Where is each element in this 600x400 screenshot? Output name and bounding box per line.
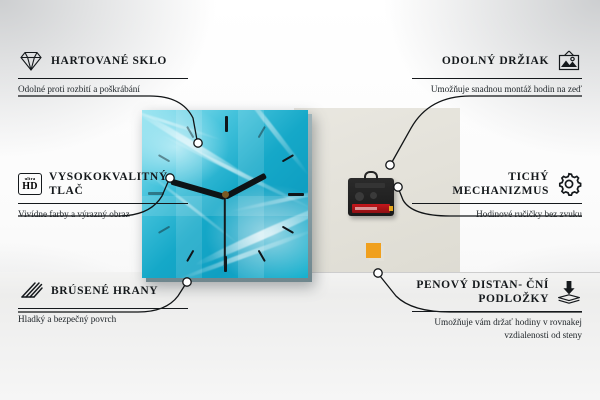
infographic-stage: HARTOVANÉ SKLO Odolné proti rozbití a po… bbox=[0, 0, 600, 400]
feature-edges-desc: Hladký a bezpečný povrch bbox=[18, 313, 188, 326]
feature-foam-title: PENOVÝ DISTAN- ČNÍ PODLOŽKY bbox=[412, 278, 549, 307]
connector-glass bbox=[18, 96, 197, 140]
feature-holder-header: ODOLNÝ DRŽIAK bbox=[412, 48, 582, 74]
feature-divider bbox=[18, 78, 188, 79]
diamond-icon bbox=[18, 48, 44, 74]
feature-holder-title: ODOLNÝ DRŽIAK bbox=[442, 54, 549, 68]
feature-holder: ODOLNÝ DRŽIAK Umožňuje snadnou montáž ho… bbox=[412, 48, 582, 97]
feature-edges-title: BRÚSENÉ HRANY bbox=[51, 284, 158, 298]
feature-foam-header: PENOVÝ DISTAN- ČNÍ PODLOŽKY bbox=[412, 278, 582, 307]
ultra-hd-icon: ultra HD bbox=[18, 173, 42, 195]
feature-glass-header: HARTOVANÉ SKLO bbox=[18, 48, 188, 74]
feature-mechanism-header: TICHÝ MECHANIZMUS bbox=[412, 170, 582, 199]
feature-divider bbox=[412, 78, 582, 79]
connector-dot-glass bbox=[194, 139, 202, 147]
feature-glass: HARTOVANÉ SKLO Odolné proti rozbití a po… bbox=[18, 48, 188, 97]
connector-holder bbox=[392, 96, 582, 162]
connector-dot-holder bbox=[386, 161, 394, 169]
feature-edges: BRÚSENÉ HRANY Hladký a bezpečný povrch bbox=[18, 278, 188, 327]
wall-hanger-icon bbox=[556, 48, 582, 74]
feature-foam: PENOVÝ DISTAN- ČNÍ PODLOŽKY Umožňuje vám… bbox=[412, 278, 582, 343]
ground-edges-icon bbox=[18, 278, 44, 304]
ultra-hd-icon-main: HD bbox=[22, 182, 37, 192]
feature-print-header: ultra HD VYSOKOKVALITNÝ TLAČ bbox=[18, 170, 188, 199]
feature-divider bbox=[412, 203, 582, 204]
gear-icon bbox=[556, 171, 582, 197]
connector-dot-foam bbox=[374, 269, 382, 277]
feature-edges-header: BRÚSENÉ HRANY bbox=[18, 278, 188, 304]
feature-mechanism: TICHÝ MECHANIZMUS Hodinové ručičky bez z… bbox=[412, 170, 582, 221]
feature-print: ultra HD VYSOKOKVALITNÝ TLAČ Vivídne far… bbox=[18, 170, 188, 221]
feature-divider bbox=[18, 203, 188, 204]
feature-foam-desc: Umožňuje vám držať hodiny v rovnakej vzd… bbox=[412, 316, 582, 343]
connector-dot-mechanism bbox=[394, 183, 402, 191]
feature-glass-desc: Odolné proti rozbití a poškrábání bbox=[18, 83, 188, 96]
feature-mechanism-desc: Hodinové ručičky bez zvuku bbox=[412, 208, 582, 221]
feature-print-title: VYSOKOKVALITNÝ TLAČ bbox=[49, 170, 188, 199]
feature-mechanism-title: TICHÝ MECHANIZMUS bbox=[412, 170, 549, 199]
feature-print-desc: Vivídne farby a výrazný obraz bbox=[18, 208, 188, 221]
feature-glass-title: HARTOVANÉ SKLO bbox=[51, 54, 167, 68]
arrow-onto-stack-icon bbox=[556, 279, 582, 305]
feature-divider bbox=[412, 311, 582, 312]
feature-divider bbox=[18, 308, 188, 309]
feature-holder-desc: Umožňuje snadnou montáž hodin na zeď bbox=[412, 83, 582, 96]
